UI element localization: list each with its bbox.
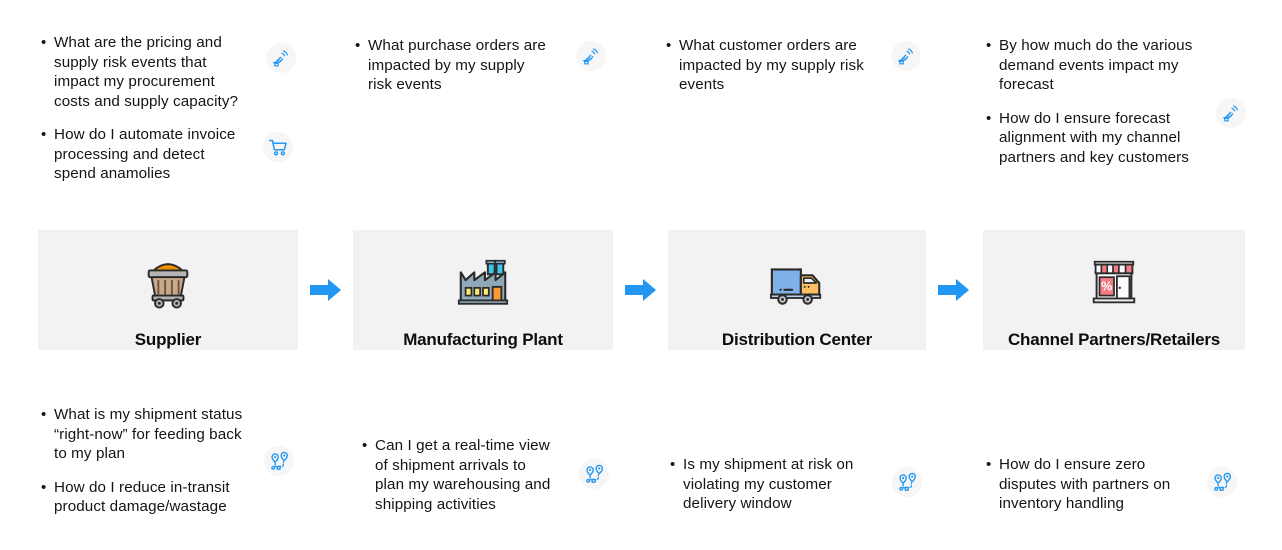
question-text: By how much do the various demand events… (999, 36, 1192, 95)
storefront-icon: % (1083, 252, 1145, 314)
arrow-supplier-to-plant (308, 276, 344, 304)
top-questions-channel-partners: • By how much do the various demand even… (986, 36, 1221, 167)
route-pins-icon (584, 464, 605, 485)
svg-text:%: % (1101, 280, 1112, 294)
question-list: • What purchase orders are impacted by m… (355, 36, 546, 95)
question-list: • By how much do the various demand even… (986, 36, 1192, 167)
bullet-icon: • (41, 33, 54, 53)
factory-icon (452, 252, 514, 314)
bullet-icon: • (41, 125, 54, 145)
question-text: How do I automate invoice processing and… (54, 125, 235, 184)
bottom-questions-manufacturing-plant: • Can I get a real-time view of shipment… (362, 436, 577, 514)
question-text: Is my shipment at risk on violating my c… (683, 455, 853, 514)
satellite-dish-icon (1221, 103, 1241, 123)
top-questions-manufacturing-plant: • What purchase orders are impacted by m… (355, 36, 570, 95)
satellite-dish-icon-chip[interactable] (891, 41, 921, 71)
route-pins-icon-chip[interactable] (579, 459, 609, 489)
bullet-icon: • (670, 455, 683, 475)
route-pins-icon-chip[interactable] (1207, 467, 1237, 497)
question-list: • What is my shipment status “right-now”… (41, 405, 242, 517)
list-item: • What are the pricing and supply risk e… (41, 33, 238, 111)
stage-label: Channel Partners/Retailers (1008, 330, 1220, 350)
list-item: • Is my shipment at risk on violating my… (670, 455, 853, 514)
satellite-dish-icon (271, 48, 291, 68)
question-list: • What customer orders are impacted by m… (666, 36, 864, 95)
bullet-icon: • (986, 36, 999, 56)
bullet-icon: • (41, 405, 54, 425)
question-text: How do I ensure forecast alignment with … (999, 109, 1189, 168)
bullet-icon: • (355, 36, 368, 56)
bullet-icon: • (666, 36, 679, 56)
bullet-icon: • (986, 109, 999, 129)
bullet-icon: • (362, 436, 375, 456)
top-questions-distribution-center: • What customer orders are impacted by m… (666, 36, 881, 95)
stage-label: Distribution Center (722, 330, 872, 350)
satellite-dish-icon-chip[interactable] (266, 43, 296, 73)
stage-box-channel-partners[interactable]: % Channel Partners/Retailers (983, 230, 1245, 350)
satellite-dish-icon (581, 46, 601, 66)
route-pins-icon (1212, 472, 1233, 493)
satellite-dish-icon-chip[interactable] (1216, 98, 1246, 128)
list-item: • How do I ensure forecast alignment wit… (986, 109, 1192, 168)
question-text: What purchase orders are impacted by my … (368, 36, 546, 95)
route-pins-icon (897, 472, 918, 493)
question-text: Can I get a real-time view of shipment a… (375, 436, 550, 514)
arrow-distribution-to-retailers (936, 276, 972, 304)
stage-label: Manufacturing Plant (403, 330, 563, 350)
delivery-truck-icon (766, 252, 828, 314)
stage-label: Supplier (135, 330, 201, 350)
question-list: • How do I ensure zero disputes with par… (986, 455, 1170, 514)
satellite-dish-icon-chip[interactable] (576, 41, 606, 71)
stage-box-supplier[interactable]: Supplier (38, 230, 298, 350)
route-pins-icon-chip[interactable] (892, 467, 922, 497)
bottom-questions-supplier: • What is my shipment status “right-now”… (41, 405, 291, 517)
supply-chain-diagram: • What are the pricing and supply risk e… (0, 0, 1282, 550)
ore-cart-icon (137, 252, 199, 314)
arrow-plant-to-distribution (623, 276, 659, 304)
question-text: What is my shipment status “right-now” f… (54, 405, 242, 464)
list-item: • What is my shipment status “right-now”… (41, 405, 242, 464)
route-pins-icon-chip[interactable] (264, 446, 294, 476)
top-questions-supplier: • What are the pricing and supply risk e… (41, 33, 291, 184)
shopping-cart-icon-chip[interactable] (263, 132, 293, 162)
bottom-questions-distribution-center: • Is my shipment at risk on violating my… (670, 455, 885, 514)
list-item: • How do I reduce in-transit product dam… (41, 478, 242, 517)
bullet-icon: • (41, 478, 54, 498)
shopping-cart-icon (268, 137, 289, 158)
question-text: What are the pricing and supply risk eve… (54, 33, 238, 111)
list-item: • What customer orders are impacted by m… (666, 36, 864, 95)
satellite-dish-icon (896, 46, 916, 66)
question-list: • Is my shipment at risk on violating my… (670, 455, 853, 514)
question-text: How do I reduce in-transit product damag… (54, 478, 230, 517)
question-list: • What are the pricing and supply risk e… (41, 33, 238, 184)
route-pins-icon (269, 451, 290, 472)
bottom-questions-channel-partners: • How do I ensure zero disputes with par… (986, 455, 1201, 514)
stage-box-distribution-center[interactable]: Distribution Center (668, 230, 926, 350)
list-item: • How do I automate invoice processing a… (41, 125, 238, 184)
question-text: How do I ensure zero disputes with partn… (999, 455, 1170, 514)
question-text: What customer orders are impacted by my … (679, 36, 864, 95)
stage-box-manufacturing-plant[interactable]: Manufacturing Plant (353, 230, 613, 350)
list-item: • How do I ensure zero disputes with par… (986, 455, 1170, 514)
bullet-icon: • (986, 455, 999, 475)
list-item: • By how much do the various demand even… (986, 36, 1192, 95)
list-item: • Can I get a real-time view of shipment… (362, 436, 550, 514)
question-list: • Can I get a real-time view of shipment… (362, 436, 550, 514)
list-item: • What purchase orders are impacted by m… (355, 36, 546, 95)
